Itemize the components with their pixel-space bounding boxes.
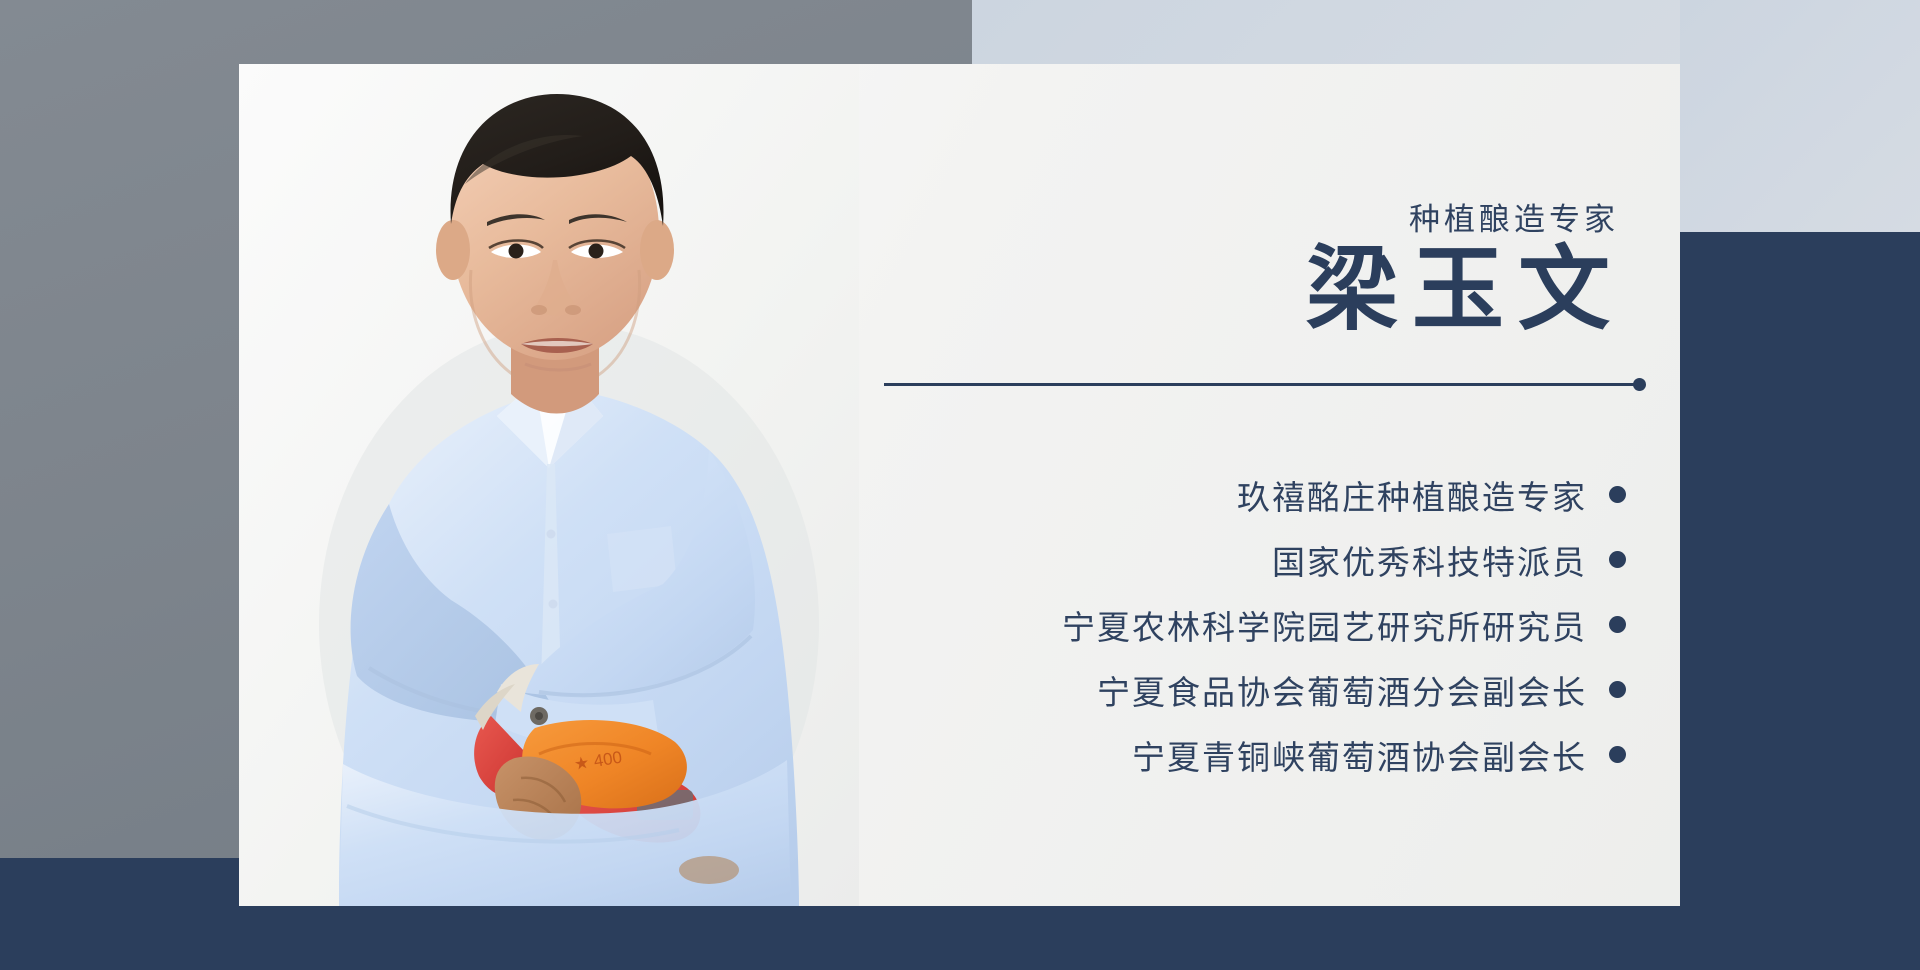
credential-text: 国家优秀科技特派员 [1272, 536, 1587, 584]
credential-text: 宁夏农林科学院园艺研究所研究员 [1062, 601, 1587, 649]
profile-text-column: 种植酿造专家 梁玉文 玖禧酩庄种植酿造专家 国家优秀科技特派员 宁夏农林科学院园… [839, 64, 1680, 906]
expert-kicker: 种植酿造专家 [1409, 194, 1619, 239]
credential-text: 宁夏青铜峡葡萄酒协会副会长 [1132, 731, 1587, 779]
divider-end-dot [1633, 378, 1646, 391]
profile-card: ★ 400 种植酿造专家 梁玉文 [239, 64, 1680, 906]
list-item: 宁夏食品协会葡萄酒分会副会长 [1097, 657, 1626, 722]
background-block-light-blue-right [1680, 0, 1920, 232]
background-block-navy-right [1680, 232, 1920, 858]
divider-line [884, 383, 1638, 386]
bullet-dot-icon [1609, 746, 1626, 763]
person-name: 梁玉文 [1306, 242, 1624, 339]
list-item: 宁夏青铜峡葡萄酒协会副会长 [1132, 722, 1626, 787]
credential-text: 宁夏食品协会葡萄酒分会副会长 [1097, 666, 1587, 714]
bullet-dot-icon [1609, 551, 1626, 568]
list-item: 玖禧酩庄种植酿造专家 [1237, 462, 1626, 527]
credential-text: 玖禧酩庄种植酿造专家 [1237, 471, 1587, 519]
title-divider [884, 382, 1646, 387]
portrait-photo: ★ 400 [239, 64, 859, 906]
credentials-list: 玖禧酩庄种植酿造专家 国家优秀科技特派员 宁夏农林科学院园艺研究所研究员 宁夏食… [886, 462, 1626, 787]
list-item: 宁夏农林科学院园艺研究所研究员 [1062, 592, 1626, 657]
list-item: 国家优秀科技特派员 [1272, 527, 1626, 592]
bullet-dot-icon [1609, 616, 1626, 633]
bullet-dot-icon [1609, 681, 1626, 698]
bullet-dot-icon [1609, 486, 1626, 503]
slide-canvas: ★ 400 种植酿造专家 梁玉文 [0, 0, 1920, 970]
